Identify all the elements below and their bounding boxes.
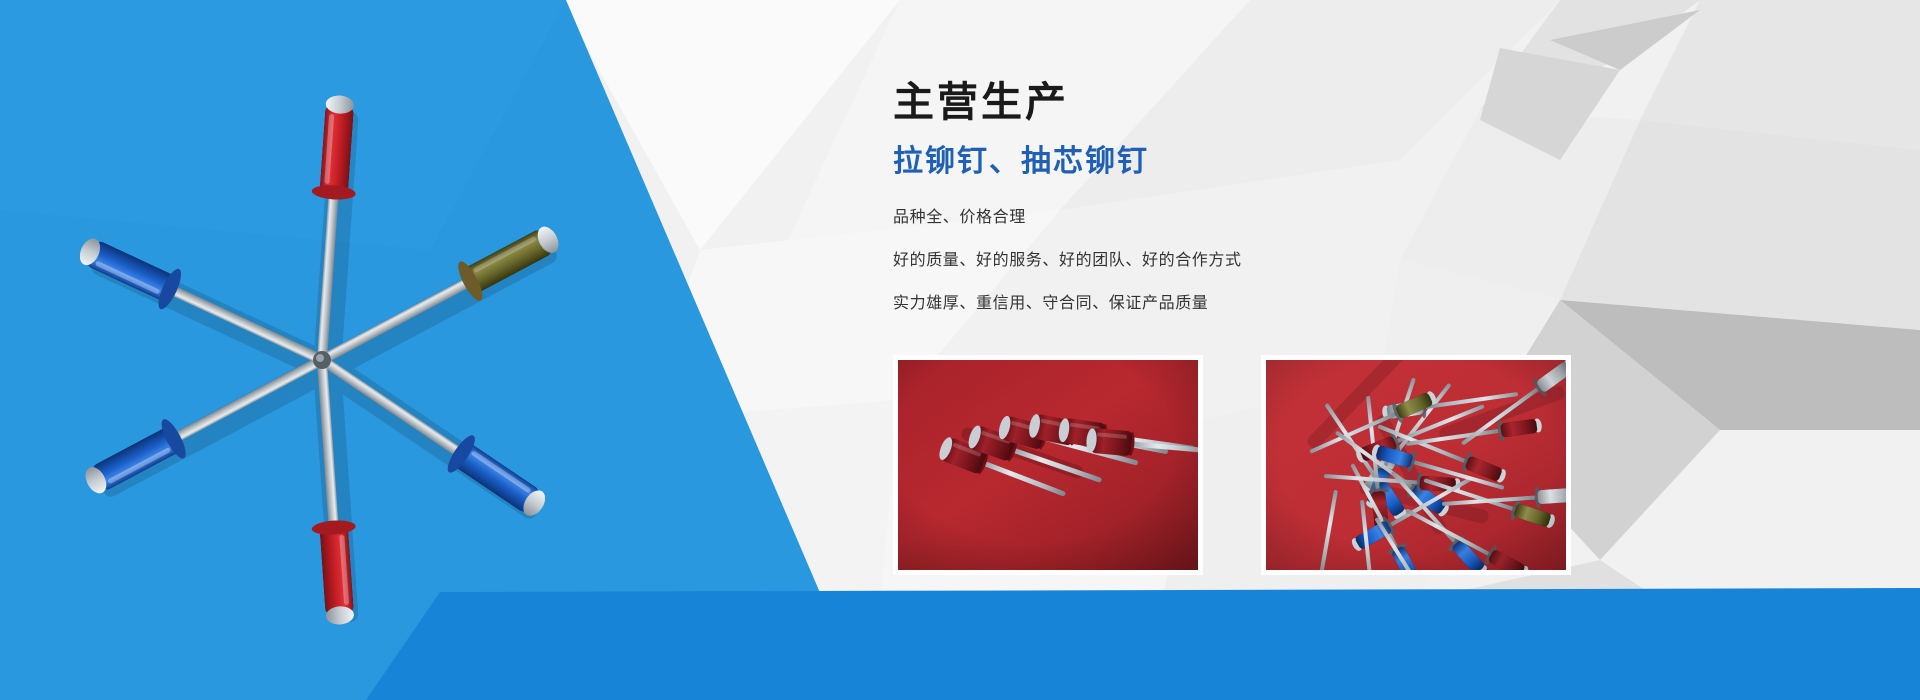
banner-text-column: 主营生产 拉铆钉、抽芯铆钉 品种全、价格合理 好的质量、好的服务、好的团队、好的… [893,78,1593,313]
product-photo-strip [893,355,1571,575]
product-photo-frame-1[interactable] [893,355,1203,575]
product-subtitle: 拉铆钉、抽芯铆钉 [893,144,1593,180]
selling-point-item: 品种全、价格合理 [893,206,1593,228]
photo-mixed-rivets-pile [1266,360,1566,570]
product-photo-frame-2[interactable] [1261,355,1571,575]
selling-point-item: 实力雄厚、重信用、守合同、保证产品质量 [893,292,1593,314]
selling-points-list: 品种全、价格合理 好的质量、好的服务、好的团队、好的合作方式 实力雄厚、重信用、… [893,206,1593,313]
photo-red-rivets-fan [898,360,1198,570]
rivet-star-graphic [60,60,580,650]
page-title: 主营生产 [893,78,1593,126]
selling-point-item: 好的质量、好的服务、好的团队、好的合作方式 [893,249,1593,271]
promo-banner: 主营生产 拉铆钉、抽芯铆钉 品种全、价格合理 好的质量、好的服务、好的团队、好的… [0,0,1920,700]
